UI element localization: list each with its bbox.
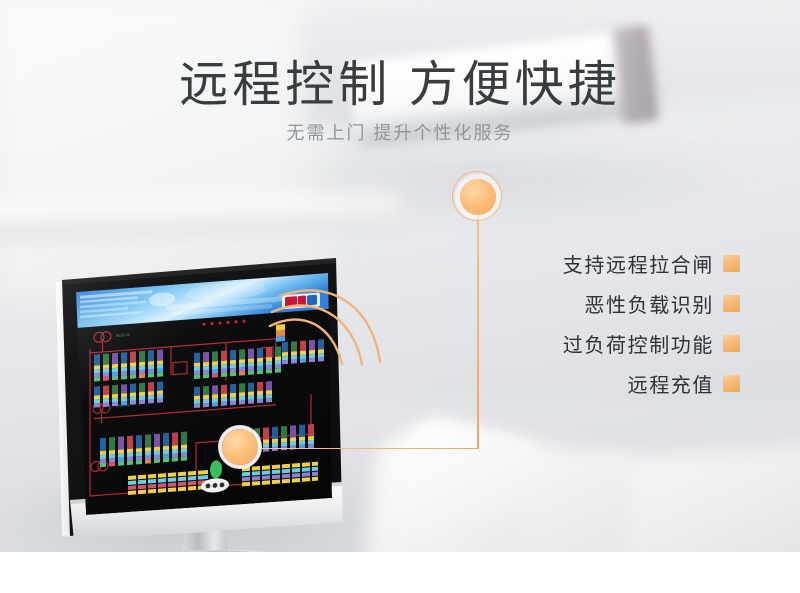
page-title: 远程控制 方便快捷 [0, 57, 800, 113]
bottom-white-strip [0, 552, 800, 593]
orange-square-bullet-icon [723, 295, 740, 312]
page-subtitle: 无需上门 提升个性化服务 [0, 120, 800, 146]
remote-control-signal-dot[interactable] [460, 179, 496, 215]
connector-horizontal-line [248, 448, 478, 450]
feature-item-1: 支持远程拉合闸 [470, 243, 740, 283]
feature-list: 支持远程拉合闸 恶性负载识别 过负荷控制功能 远程充值 [470, 243, 740, 403]
feature-label: 过负荷控制功能 [563, 329, 714, 358]
feature-label: 支持远程拉合闸 [563, 249, 714, 278]
wifi-signal-arcs [258, 272, 388, 382]
feature-label: 远程充值 [628, 369, 714, 398]
orange-square-bullet-icon [723, 255, 740, 272]
wifi-arc-inner [270, 320, 342, 364]
wifi-arc-mid [272, 305, 362, 364]
feature-item-4: 远程充值 [470, 363, 740, 403]
feature-item-2: 恶性负载识别 [470, 283, 740, 323]
feature-item-3: 过负荷控制功能 [470, 323, 740, 363]
screen-target-dot[interactable] [222, 429, 258, 465]
orange-square-bullet-icon [723, 375, 740, 392]
wifi-arc-outer [280, 290, 380, 362]
orange-square-bullet-icon [723, 335, 740, 352]
poster-canvas: 远程控制 方便快捷 无需上门 提升个性化服务 [0, 0, 800, 593]
feature-label: 恶性负载识别 [584, 289, 714, 318]
